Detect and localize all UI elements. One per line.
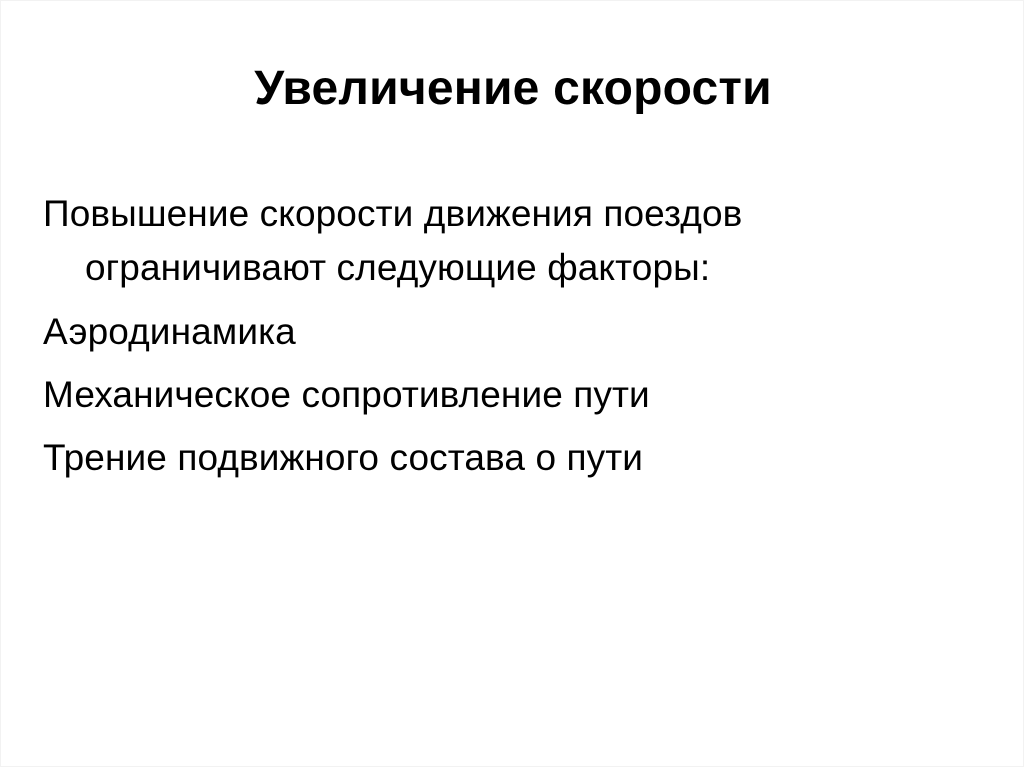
list-item: Аэродинамика	[43, 305, 943, 359]
slide: Увеличение скорости Повышение скорости д…	[0, 0, 1024, 767]
slide-body: Повышение скорости движения поездов огра…	[43, 187, 943, 485]
list-item: Механическое сопротивление пути	[43, 368, 943, 422]
body-paragraph-intro: Повышение скорости движения поездов огра…	[43, 187, 943, 295]
list-item: Трение подвижного состава о пути	[43, 431, 943, 485]
page-title: Увеличение скорости	[1, 63, 1024, 116]
